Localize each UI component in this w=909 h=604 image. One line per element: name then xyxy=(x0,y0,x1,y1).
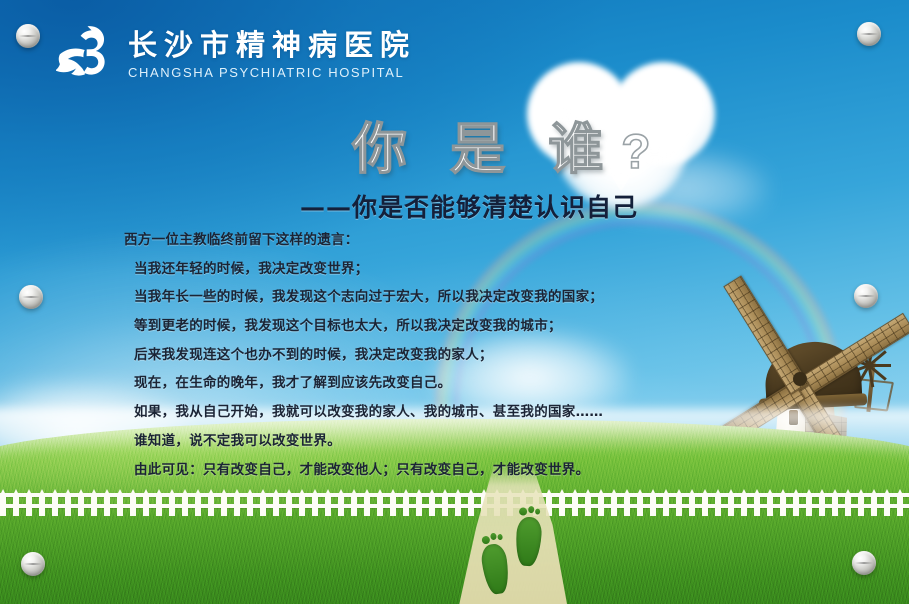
body-paragraph: 西方一位主教临终前留下这样的遗言：当我还年轻的时候，我决定改变世界；当我年长一些… xyxy=(124,234,664,492)
body-line: 西方一位主教临终前留下这样的遗言： xyxy=(124,234,664,248)
body-line: 如果，我从自己开始，我就可以改变我的家人、我的城市、甚至我的国家…… xyxy=(124,406,664,420)
hospital-name-en: CHANGSHA PSYCHIATRIC HOSPITAL xyxy=(128,65,416,80)
body-line: 当我还年轻的时候，我决定改变世界； xyxy=(124,263,664,277)
screw-top-left xyxy=(16,24,40,48)
page-subtitle: ——你是否能够清楚认识自己 xyxy=(300,188,638,224)
screw-middle-left xyxy=(19,285,43,309)
screw-bottom-left xyxy=(21,552,45,576)
screw-bottom-right xyxy=(852,551,876,575)
hospital-branding: 长沙市精神病医院 CHANGSHA PSYCHIATRIC HOSPITAL xyxy=(56,24,416,86)
body-line: 由此可见：只有改变自己，才能改变他人；只有改变自己，才能改变世界。 xyxy=(124,464,664,478)
page-title: 你 是 谁? xyxy=(352,104,663,184)
screw-middle-right xyxy=(854,284,878,308)
body-line: 现在，在生命的晚年，我才了解到应该先改变自己。 xyxy=(124,377,664,391)
hospital-logo-icon xyxy=(56,24,114,86)
question-mark-icon: ? xyxy=(621,126,662,179)
body-line: 后来我发现连这个也办不到的时候，我决定改变我的家人； xyxy=(124,349,664,363)
screw-top-right xyxy=(857,22,881,46)
windmill-hub xyxy=(793,372,807,386)
body-line: 等到更老的时候，我发现这个目标也太大，所以我决定改变我的城市； xyxy=(124,320,664,334)
page-title-text: 你 是 谁 xyxy=(352,117,615,181)
hospital-name-cn: 长沙市精神病医院 xyxy=(128,30,416,61)
poster-canvas: 长沙市精神病医院 CHANGSHA PSYCHIATRIC HOSPITAL 你… xyxy=(0,0,909,604)
body-line: 谁知道，说不定我可以改变世界。 xyxy=(124,435,664,449)
body-line: 当我年长一些的时候，我发现这个志向过于宏大，所以我决定改变我的国家； xyxy=(124,291,664,305)
